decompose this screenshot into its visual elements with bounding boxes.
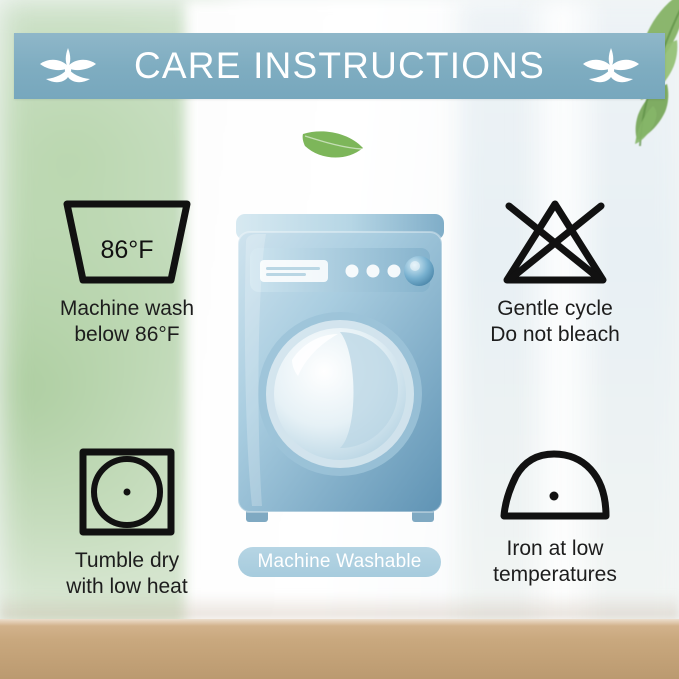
symbol-tumble-dry: Tumble dry with low heat [12,444,242,600]
care-instructions-card: CARE INSTRUCTIONS [0,0,679,679]
symbol-gentle-cycle-no-bleach: Gentle cycle Do not bleach [440,196,670,348]
wash-temperature-label: 86°F [100,236,153,264]
symbol-iron-low: Iron at low temperatures [440,444,670,588]
wash-tub-icon: 86°F [12,196,242,288]
caption-line-1: Tumble dry [12,548,242,574]
caption-line-2: Do not bleach [440,322,670,348]
floating-leaf-icon [300,126,366,166]
symbol-machine-wash: 86°F Machine wash below 86°F [12,196,242,348]
wood-table-surface [0,619,679,679]
machine-washable-badge: Machine Washable [238,547,441,577]
header-banner: CARE INSTRUCTIONS [14,33,665,99]
caption-line-2: temperatures [440,562,670,588]
caption-line-1: Machine wash [12,296,242,322]
fleur-de-lis-icon [579,46,643,86]
page-title: CARE INSTRUCTIONS [134,45,545,87]
fleur-de-lis-icon [36,46,100,86]
washing-machine-illustration [232,208,448,528]
caption-line-1: Gentle cycle [440,296,670,322]
caption-line-1: Iron at low [440,536,670,562]
iron-icon [440,444,670,528]
table-shadow [0,593,679,619]
badge-label: Machine Washable [257,551,421,573]
tumble-dry-icon [12,444,242,540]
caption-line-2: below 86°F [12,322,242,348]
triangle-crossed-icon [440,196,670,288]
